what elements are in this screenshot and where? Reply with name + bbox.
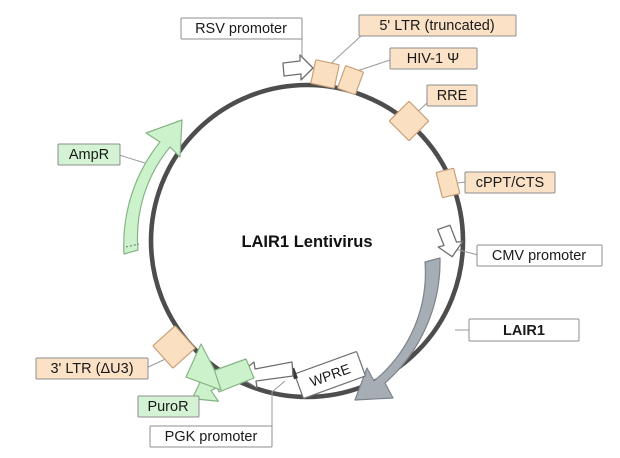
feature-lair1[interactable] <box>355 258 440 400</box>
leader-pgk-promoter <box>272 381 285 428</box>
five-prime-ltr-box-shape <box>311 60 339 88</box>
plasmid-center-title: LAIR1 Lentivirus <box>241 233 372 251</box>
leader-cmv-promoter <box>455 249 478 255</box>
lair1-label-text: LAIR1 <box>503 323 545 339</box>
label-ampr[interactable]: AmpR <box>58 144 120 165</box>
three-prime-ltr-label-text: 3' LTR (ΔU3) <box>50 361 133 377</box>
label-pgk-promoter[interactable]: PGK promoter <box>150 426 272 447</box>
leader-line-group <box>119 34 478 428</box>
label-rsv-promoter[interactable]: RSV promoter <box>181 18 302 39</box>
rre-label-text: RRE <box>437 88 468 104</box>
feature-rsv-promoter[interactable] <box>283 55 313 80</box>
puror-label-text: PuroR <box>147 399 188 415</box>
pgk-promoter-label-text: PGK promoter <box>165 429 258 445</box>
label-rre[interactable]: RRE <box>427 85 477 106</box>
label-5-prime-ltr[interactable]: 5' LTR (truncated) <box>359 15 516 36</box>
plasmid-map-canvas: LAIR1 Lentivirus <box>0 0 620 458</box>
label-cmv-promoter[interactable]: CMV promoter <box>477 245 602 266</box>
ampr-label-text: AmpR <box>69 147 109 163</box>
label-3-prime-ltr[interactable]: 3' LTR (ΔU3) <box>36 358 148 379</box>
rsv-promoter-arrow-shape <box>283 55 313 80</box>
hiv1-psi-label-text: HIV-1 Ψ <box>407 51 459 67</box>
cmv-promoter-label-text: CMV promoter <box>492 248 586 264</box>
label-lair1[interactable]: LAIR1 <box>469 319 579 341</box>
feature-5-prime-ltr[interactable] <box>311 60 339 88</box>
leader-ampr <box>119 155 145 163</box>
label-hiv1-psi[interactable]: HIV-1 Ψ <box>390 48 477 69</box>
rsv-promoter-label-text: RSV promoter <box>195 21 287 37</box>
five-prime-ltr-label-text: 5' LTR (truncated) <box>379 18 494 34</box>
lair1-arrow-shape <box>355 258 440 400</box>
feature-cppt-cts[interactable] <box>436 168 460 198</box>
label-puror[interactable]: PuroR <box>138 396 199 417</box>
label-cppt-cts[interactable]: cPPT/CTS <box>465 172 555 193</box>
plasmid-map-figure: LAIR1 Lentivirus <box>0 0 620 458</box>
cppt-cts-box-shape <box>436 168 460 198</box>
cppt-cts-label-text: cPPT/CTS <box>476 175 544 191</box>
